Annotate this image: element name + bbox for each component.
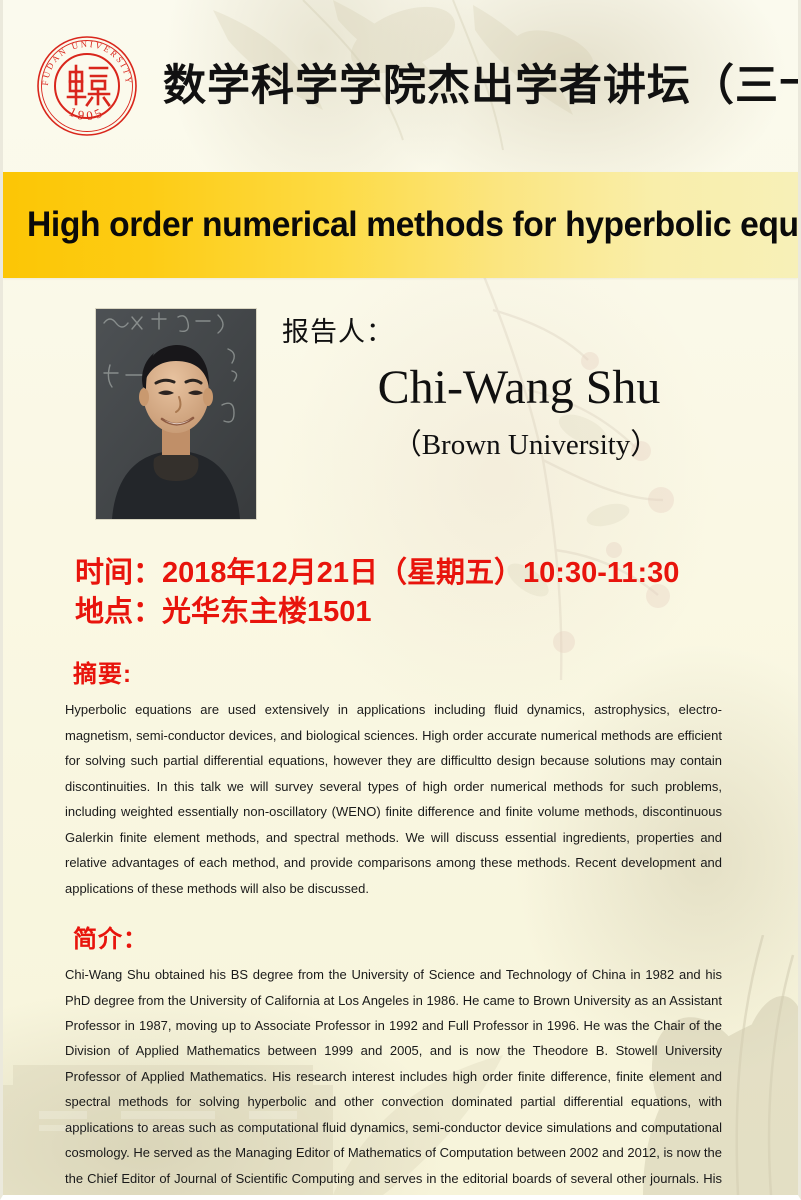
- bio-section: 简介： Chi-Wang Shu obtained his BS degree …: [3, 919, 798, 1200]
- svg-text:FUDAN UNIVERSITY: FUDAN UNIVERSITY: [40, 39, 134, 86]
- talk-title: High order numerical methods for hyperbo…: [27, 205, 801, 245]
- poster-header: FUDAN UNIVERSITY 1905 数学科学学院杰出学者讲坛（三十一）: [3, 0, 798, 172]
- speaker-label: 报告人：: [282, 310, 798, 349]
- event-place: 地点：光华东主楼1501: [75, 593, 798, 632]
- bio-title: 简介：: [73, 919, 732, 954]
- talk-title-band: High order numerical methods for hyperbo…: [3, 172, 798, 278]
- speaker-portrait: [95, 308, 257, 520]
- event-time: 时间：2018年12月21日（星期五）10:30-11:30: [75, 554, 798, 593]
- speaker-details: 报告人： Chi-Wang Shu （Brown University）: [257, 308, 798, 520]
- bio-body: Chi-Wang Shu obtained his BS degree from…: [65, 962, 722, 1200]
- abstract-section: 摘要: Hyperbolic equations are used extens…: [3, 654, 798, 901]
- page-title: 数学科学学院杰出学者讲坛（三十一）: [163, 65, 801, 108]
- abstract-body: Hyperbolic equations are used extensivel…: [65, 697, 722, 901]
- speaker-section: 报告人： Chi-Wang Shu （Brown University）: [3, 278, 798, 520]
- svg-text:1905: 1905: [67, 104, 108, 124]
- speaker-affiliation: （Brown University）: [282, 421, 798, 463]
- seminar-poster: FUDAN UNIVERSITY 1905 数学科学学院杰出学者讲坛（三十一）: [0, 0, 801, 1200]
- abstract-title: 摘要:: [73, 654, 732, 689]
- fudan-university-seal-icon: FUDAN UNIVERSITY 1905: [35, 34, 139, 138]
- speaker-name: Chi-Wang Shu: [282, 363, 798, 413]
- event-meta: 时间：2018年12月21日（星期五）10:30-11:30 地点：光华东主楼1…: [3, 554, 798, 632]
